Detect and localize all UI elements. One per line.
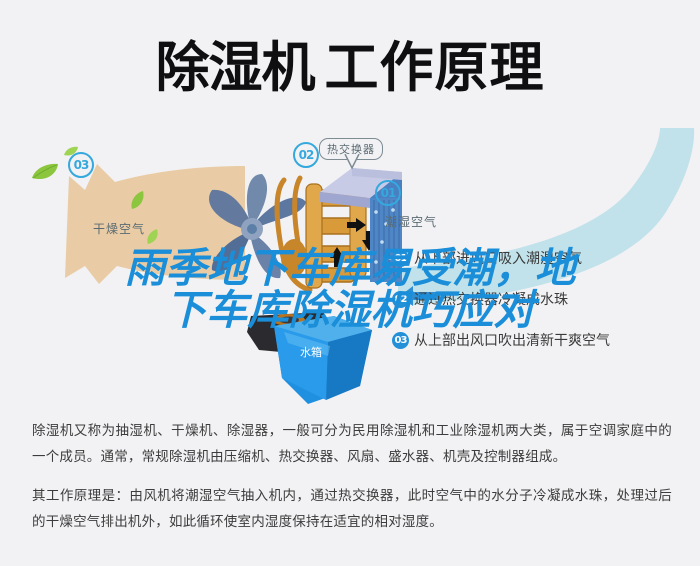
diagram-badge-03: 03 — [68, 152, 94, 178]
infographic-page: 除湿机工作原理 — [0, 0, 700, 566]
body-paragraph-2: 其工作原理是：由风机将潮湿空气抽入机内，通过热交换器，此时空气中的水分子冷凝成水… — [32, 483, 672, 536]
legend-item: 03 从上部出风口吹出清新干爽空气 — [392, 330, 692, 350]
diagram-badge-01: 01 — [375, 180, 401, 206]
page-title: 除湿机工作原理 — [0, 28, 700, 108]
diagram-badge-02: 02 — [293, 142, 319, 168]
page-title-part1: 除湿机 — [156, 36, 315, 99]
dry-air-label: 干燥空气 — [93, 220, 145, 237]
callout-tail-icon — [343, 154, 361, 175]
heat-exchanger-callout: 热交换器 — [319, 138, 383, 160]
dehumidifier-diagram: 水箱 03 02 01 干燥空气 潮湿空气 热交换器 01 从下部进风口吸入潮湿… — [0, 120, 700, 400]
water-tank-icon — [268, 316, 378, 408]
page-title-part2: 工作原理 — [325, 36, 545, 99]
body-paragraph-1: 除湿机又称为抽湿机、干燥机、除湿器，一般可分为民用除湿机和工业除湿机两大类，属于… — [32, 418, 672, 471]
legend-item: 01 从下部进风口吸入潮湿空气 — [392, 248, 692, 268]
legend-text-03: 从上部出风口吹出清新干爽空气 — [414, 330, 610, 350]
legend-text-02: 通过热交换器冷凝成水珠 — [414, 289, 568, 309]
legend-badge-02: 02 — [392, 291, 409, 308]
leaf-icon — [130, 190, 145, 215]
body-copy: 除湿机又称为抽湿机、干燥机、除湿器，一般可分为民用除湿机和工业除湿机两大类，属于… — [32, 418, 672, 547]
diagram-legend: 01 从下部进风口吸入潮湿空气 02 通过热交换器冷凝成水珠 03 从上部出风口… — [392, 248, 692, 371]
leaf-icon — [146, 228, 159, 250]
water-tank-label: 水箱 — [300, 344, 322, 360]
leaf-icon — [30, 162, 60, 187]
body-paragraph-2-lead: 其工作原理是： — [32, 488, 129, 503]
legend-item: 02 通过热交换器冷凝成水珠 — [392, 289, 692, 309]
legend-text-01: 从下部进风口吸入潮湿空气 — [414, 248, 582, 268]
humid-air-label: 潮湿空气 — [385, 213, 437, 230]
legend-badge-01: 01 — [392, 250, 409, 267]
legend-badge-03: 03 — [392, 332, 409, 349]
